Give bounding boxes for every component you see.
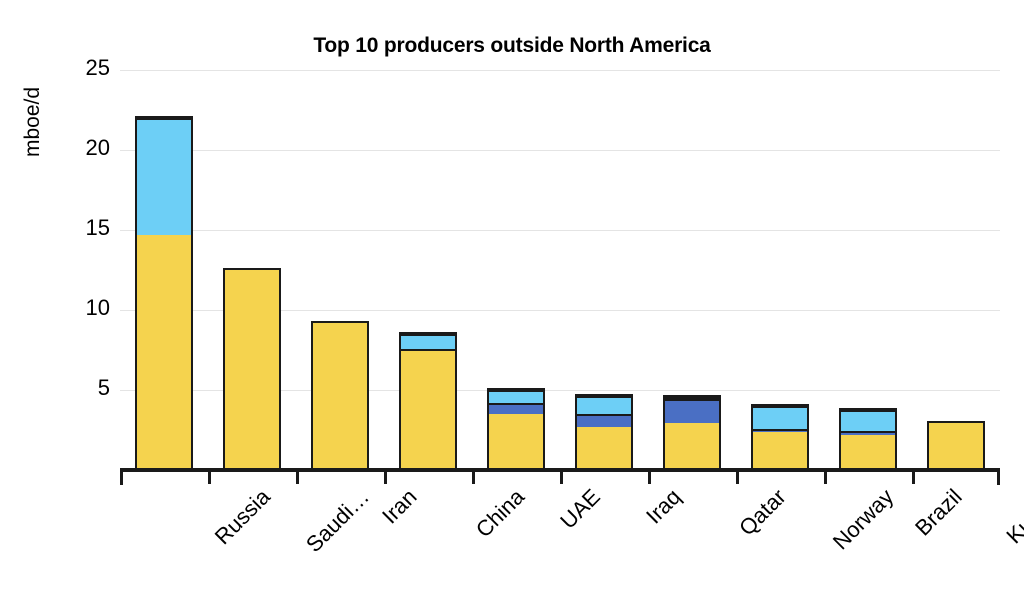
- x-axis-tick: [912, 472, 915, 484]
- bar-segment-series-3[interactable]: [841, 410, 895, 430]
- chart-container: Top 10 producers outside North America m…: [0, 0, 1024, 591]
- gridline-20: [120, 150, 1000, 151]
- x-axis-tick: [736, 472, 739, 484]
- bar-segment-series-1[interactable]: [225, 270, 279, 468]
- bar-segment-series-1[interactable]: [137, 235, 191, 468]
- bar-stack[interactable]: [751, 404, 809, 470]
- bar-stack[interactable]: [927, 421, 985, 470]
- bar-segment-series-1[interactable]: [929, 423, 983, 468]
- y-tick-label: 25: [58, 57, 110, 79]
- x-axis-tick: [560, 472, 563, 484]
- bar-stack[interactable]: [311, 321, 369, 470]
- bar-segment-series-3[interactable]: [577, 396, 631, 414]
- bar-segment-series-3[interactable]: [401, 334, 455, 350]
- bar-segment-series-2[interactable]: [665, 399, 719, 423]
- bar-segment-series-3[interactable]: [489, 390, 543, 403]
- x-axis-tick: [648, 472, 651, 484]
- x-tick-label: Saudi…: [301, 484, 375, 558]
- x-tick-label: UAE: [556, 484, 606, 534]
- plot-area: [120, 70, 1000, 470]
- bar-segment-series-3[interactable]: [753, 406, 807, 429]
- bar-segment-series-2[interactable]: [489, 403, 543, 414]
- bar-segment-series-1[interactable]: [489, 414, 543, 468]
- x-tick-label: Norway: [828, 484, 899, 555]
- x-tick-label: China: [471, 484, 530, 543]
- bar-segment-series-1[interactable]: [313, 323, 367, 468]
- y-tick-label: 10: [58, 297, 110, 319]
- bar-segment-series-2[interactable]: [577, 414, 631, 427]
- bar-segment-series-3[interactable]: [137, 118, 191, 235]
- bar-stack[interactable]: [487, 388, 545, 470]
- y-tick-label: 20: [58, 137, 110, 159]
- bar-segment-series-1[interactable]: [753, 432, 807, 468]
- x-axis-end-tick-left: [120, 472, 123, 485]
- x-axis-tick: [384, 472, 387, 484]
- bar-stack[interactable]: [135, 116, 193, 470]
- x-axis-tick: [472, 472, 475, 484]
- x-axis-tick: [296, 472, 299, 484]
- bar-stack[interactable]: [223, 268, 281, 470]
- bar-stack[interactable]: [663, 395, 721, 470]
- x-tick-label: Iraq: [641, 484, 686, 529]
- x-tick-label: Russia: [210, 484, 276, 550]
- bar-stack[interactable]: [399, 332, 457, 470]
- x-tick-label: Brazil: [911, 484, 968, 541]
- bar-segment-series-1[interactable]: [401, 351, 455, 468]
- x-axis-tick: [208, 472, 211, 484]
- bar-segment-series-1[interactable]: [577, 427, 631, 468]
- gridline-25: [120, 70, 1000, 71]
- bar-segment-series-1[interactable]: [665, 423, 719, 468]
- gridline-15: [120, 230, 1000, 231]
- x-axis-tick: [824, 472, 827, 484]
- bar-stack[interactable]: [575, 394, 633, 470]
- x-tick-label: Iran: [377, 484, 422, 529]
- x-tick-label: Kuwait: [1002, 484, 1024, 549]
- chart-title: Top 10 producers outside North America: [0, 34, 1024, 58]
- bar-stack[interactable]: [839, 408, 897, 470]
- y-tick-label: 5: [58, 377, 110, 399]
- x-tick-label: Qatar: [735, 484, 792, 541]
- y-tick-label: 15: [58, 217, 110, 239]
- bar-segment-series-1[interactable]: [841, 435, 895, 468]
- y-axis-title: mboe/d: [21, 62, 45, 182]
- x-axis-end-tick-right: [997, 472, 1000, 485]
